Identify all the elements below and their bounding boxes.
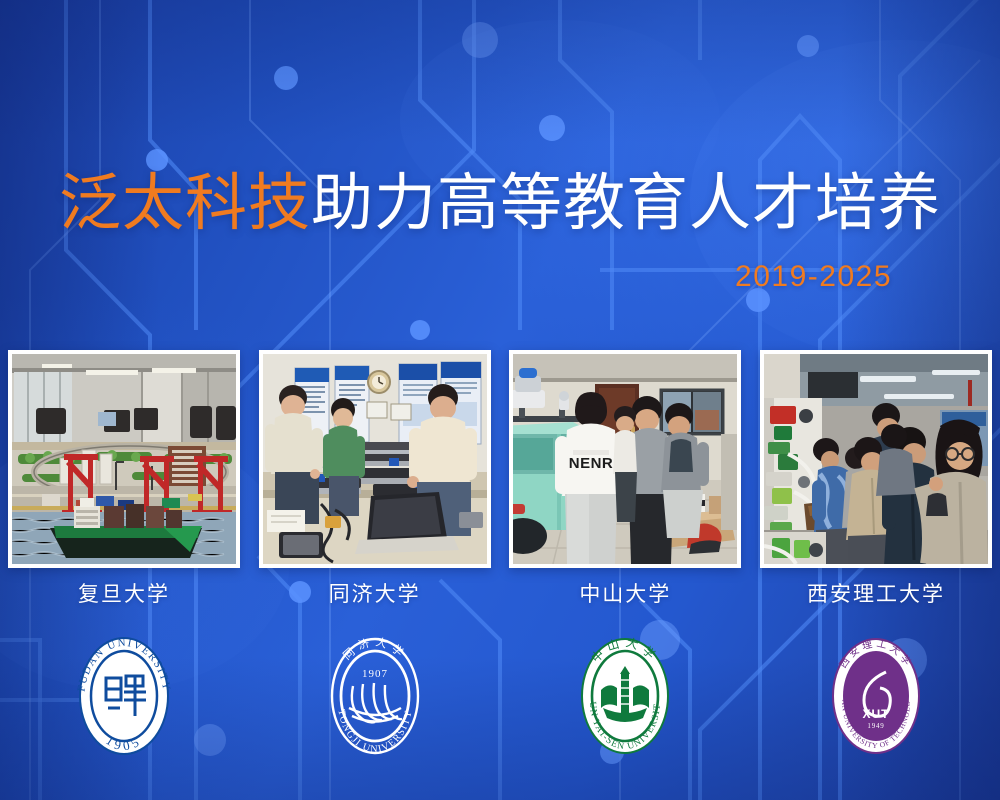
fudan-university-logo: FUDAN UNIVERSITY 1905 xyxy=(68,632,180,760)
presentation-slide: 泛太科技助力高等教育人才培养 2019-2025 xyxy=(0,0,1000,800)
xian-university-of-technology-logo: 西安理工大学 XI'AN UNIVERSITY OF TECHNOLOGY XU… xyxy=(820,632,932,760)
university-name-row: 复旦大学 同济大学 中山大学 西安理工大学 xyxy=(8,578,992,608)
logo-cell-sysu: 中山大学 SUN YAT-SEN UNIVERSITY xyxy=(509,630,741,762)
title-plain-text: 助力高等教育人才培养 xyxy=(311,169,941,238)
title-accent-text: 泛太科技 xyxy=(59,169,311,238)
logo-cell-fudan: FUDAN UNIVERSITY 1905 xyxy=(8,630,240,762)
photo-card-sysu[interactable]: NENR xyxy=(509,350,741,568)
fudan-lab-port-city-scale-model xyxy=(12,354,236,564)
university-name-sysu: 中山大学 xyxy=(509,578,741,608)
photo-card-tongji[interactable] xyxy=(259,350,491,568)
svg-text:XUT: XUT xyxy=(862,707,889,721)
logo-cell-xut: 西安理工大学 XI'AN UNIVERSITY OF TECHNOLOGY XU… xyxy=(760,630,992,762)
logo-cell-tongji: 同济大学 TONGJI UNIVERSITY 1907 xyxy=(259,630,491,762)
tongji-university-logo: 同济大学 TONGJI UNIVERSITY 1907 xyxy=(319,632,431,760)
tongji-lab-students-equipment xyxy=(263,354,487,564)
page-title: 泛太科技助力高等教育人才培养 xyxy=(0,172,1000,236)
university-name-fudan: 复旦大学 xyxy=(8,578,240,608)
xut-industrial-equipment-visit xyxy=(764,354,988,564)
photo-gallery-row: NENR xyxy=(8,350,992,568)
svg-text:1949: 1949 xyxy=(867,722,884,730)
title-block: 泛太科技助力高等教育人才培养 2019-2025 xyxy=(0,172,1000,294)
photo-card-xut[interactable] xyxy=(760,350,992,568)
university-name-xut: 西安理工大学 xyxy=(760,578,992,608)
sun-yat-sen-university-logo: 中山大学 SUN YAT-SEN UNIVERSITY xyxy=(569,632,681,760)
svg-text:NENR: NENR xyxy=(569,455,614,472)
sysu-autonomous-vehicle-demo: NENR xyxy=(513,354,737,564)
photo-card-fudan[interactable] xyxy=(8,350,240,568)
svg-text:1907: 1907 xyxy=(362,668,388,680)
subtitle-year-range: 2019-2025 xyxy=(0,260,1000,294)
university-name-tongji: 同济大学 xyxy=(259,578,491,608)
university-logo-row: FUDAN UNIVERSITY 1905 xyxy=(8,630,992,762)
